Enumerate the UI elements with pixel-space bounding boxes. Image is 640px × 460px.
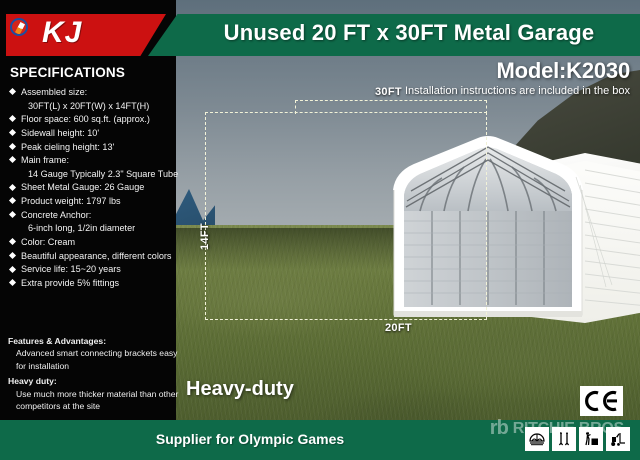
model-label: Model:K2030: [405, 58, 630, 84]
specifications-heading: SPECIFICATIONS: [10, 65, 125, 80]
height-dimension-label: 14FT: [199, 223, 211, 250]
spec-item: 6-inch long, 1/2in diameter: [8, 222, 176, 234]
spec-item: Extra provide 5% fittings: [8, 277, 176, 289]
dimension-outline: [205, 112, 487, 320]
heavy-duty-callout: Heavy-duty: [186, 378, 294, 401]
ce-mark-icon: [580, 386, 623, 416]
keep-dry-umbrella-icon: [525, 427, 549, 451]
brand-red-panel: [6, 14, 166, 56]
spec-item: Sidewall height: 10': [8, 127, 176, 139]
spec-item: 30FT(L) x 20FT(W) x 14FT(H): [8, 100, 176, 112]
no-littering-icon: [579, 427, 603, 451]
length-dimension-label: 30FT: [375, 86, 402, 98]
model-block: Model:K2030 Installation instructions ar…: [405, 58, 630, 97]
shipping-icons-group: [525, 427, 630, 451]
spec-item: Service life: 15~20 years: [8, 263, 176, 275]
spec-item: Assembled size:: [8, 86, 176, 98]
brand-bar: KJ: [0, 14, 176, 56]
page-title: Unused 20 FT x 30FT Metal Garage: [148, 20, 640, 46]
features-line-1: Advanced smart connecting brackets easy: [8, 347, 176, 359]
model-note: Installation instructions are included i…: [405, 85, 630, 97]
kj-circle-emblem-icon: [10, 18, 28, 36]
footer-bar: Supplier for Olympic Games: [0, 420, 640, 460]
spec-item: Floor space: 600 sq.ft. (approx.): [8, 113, 176, 125]
specifications-sidebar: SPECIFICATIONS Assembled size: 30FT(L) x…: [0, 0, 176, 420]
forklift-icon: [606, 427, 630, 451]
product-poster: 30FT 20FT 14FT SPECIFICATIONS Assembled …: [0, 0, 640, 460]
features-line-2: for installation: [8, 360, 176, 372]
heavy-duty-line-1: Use much more thicker material than othe…: [8, 388, 176, 400]
spec-item: Peak cieling height: 13': [8, 141, 176, 153]
this-way-up-fragile-icon: [552, 427, 576, 451]
spec-item: Product weight: 1797 lbs: [8, 195, 176, 207]
spec-item: 14 Gauge Typically 2.3" Square Tube: [8, 168, 176, 180]
spec-item: Beautiful appearance, different colors: [8, 250, 176, 262]
features-advantages-block: Features & Advantages: Advanced smart co…: [8, 332, 176, 413]
spec-item: Concrete Anchor:: [8, 209, 176, 221]
spec-item: Color: Cream: [8, 236, 176, 248]
length-dimension-bracket: [295, 100, 487, 114]
features-heading: Features & Advantages:: [8, 335, 176, 347]
heavy-duty-line-2: competitors at the site: [8, 400, 176, 412]
heavy-duty-heading: Heavy duty:: [8, 375, 176, 387]
title-bar: Unused 20 FT x 30FT Metal Garage: [148, 14, 640, 56]
spec-item: Sheet Metal Gauge: 26 Gauge: [8, 181, 176, 193]
width-dimension-label: 20FT: [385, 322, 412, 334]
specifications-list: Assembled size: 30FT(L) x 20FT(W) x 14FT…: [8, 86, 176, 291]
spec-item: Main frame:: [8, 154, 176, 166]
brand-name: KJ: [42, 16, 82, 50]
